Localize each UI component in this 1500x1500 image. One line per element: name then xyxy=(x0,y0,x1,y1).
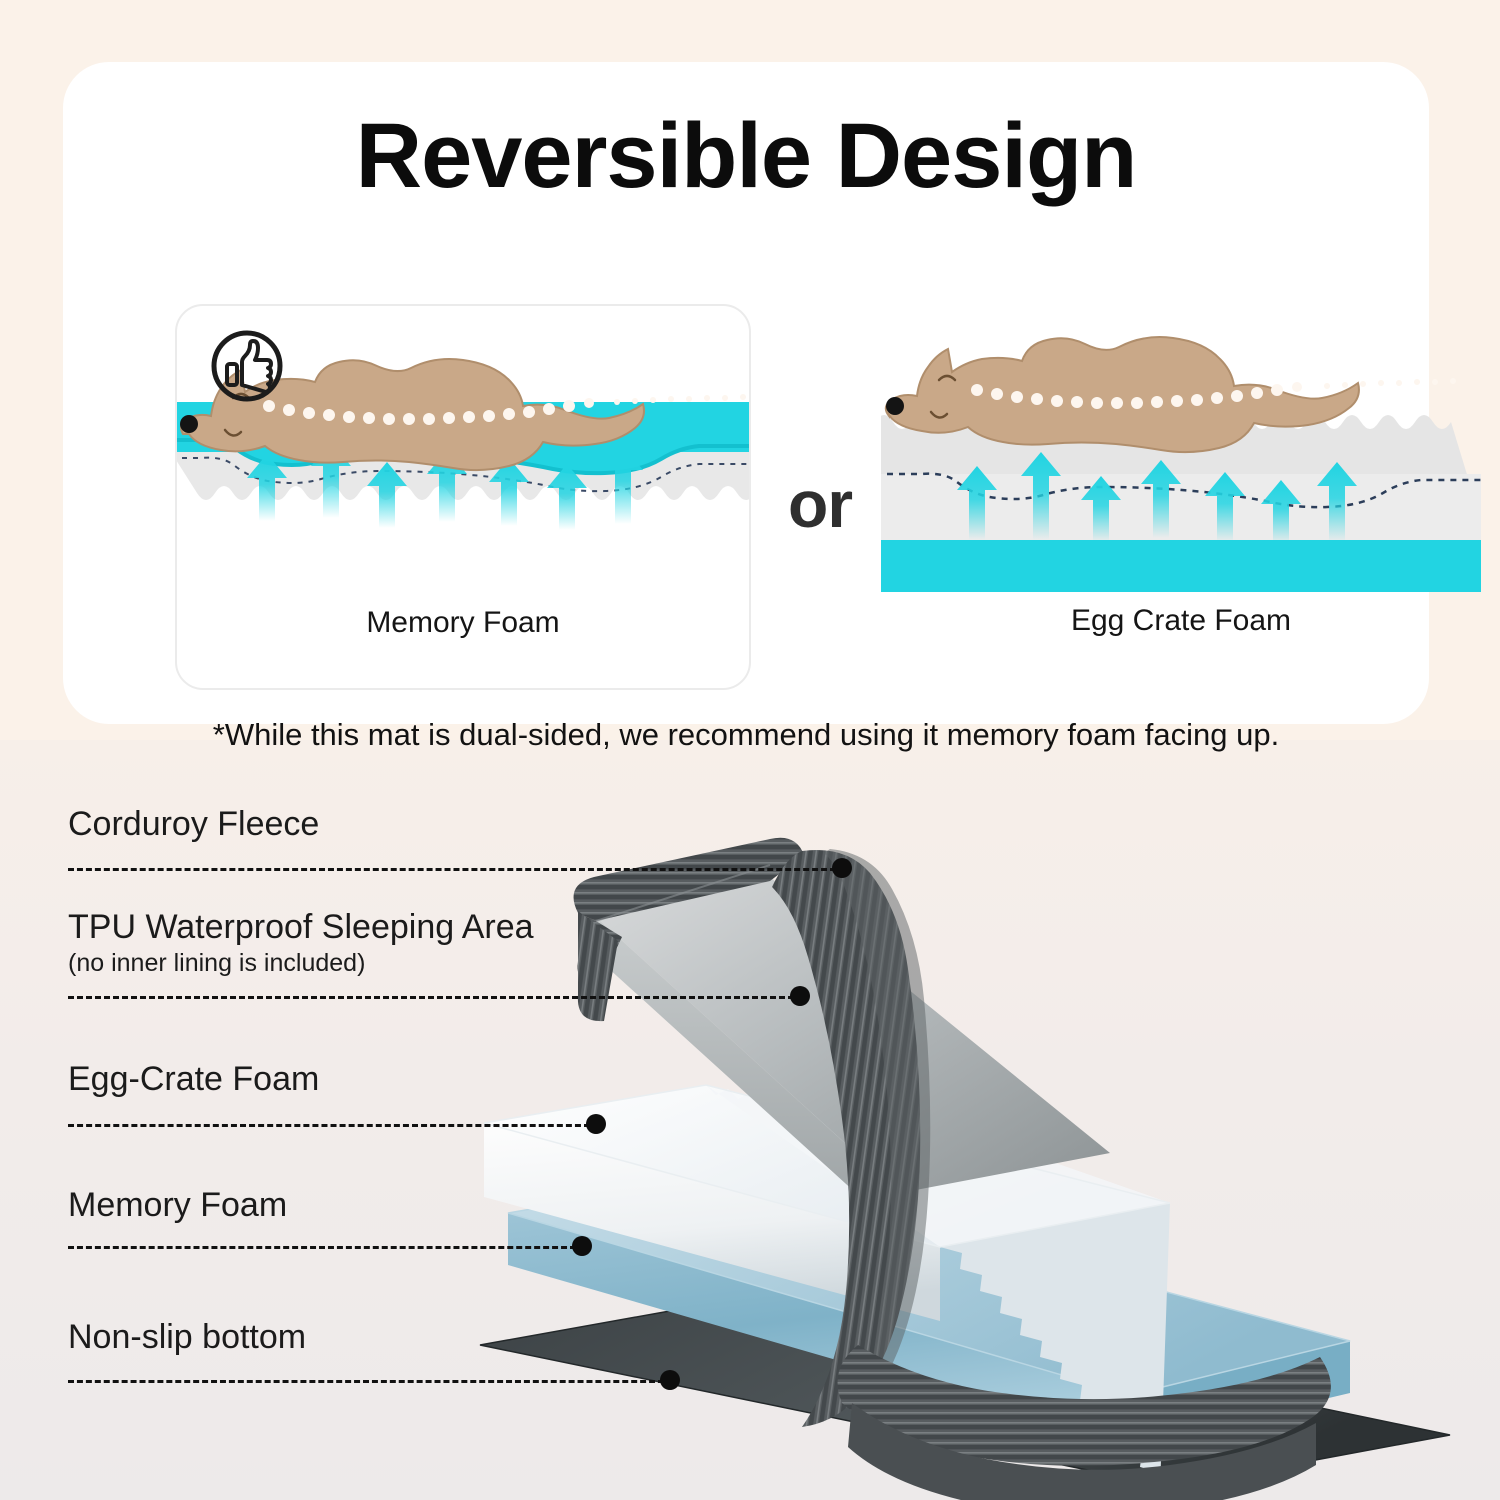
leader-dot-tpu xyxy=(790,986,810,1006)
option-card-egg-crate-foam[interactable]: Egg Crate Foam xyxy=(881,304,1481,686)
reversible-design-card: Reversible Design xyxy=(63,62,1429,724)
layer-label-egg-crate-foam: Egg-Crate Foam xyxy=(68,1060,319,1099)
leader-line-corduroy-fleece xyxy=(68,868,836,871)
leader-dot-egg-crate-foam xyxy=(586,1114,606,1134)
or-separator-label: or xyxy=(760,466,880,542)
layer-label-text: Corduroy Fleece xyxy=(68,805,319,844)
layer-label-memory-foam: Memory Foam xyxy=(68,1186,287,1225)
leader-line-egg-crate-foam xyxy=(68,1124,590,1127)
product-exploded-image xyxy=(470,745,1500,1500)
layer-label-text: Memory Foam xyxy=(68,1186,287,1225)
layer-label-text: TPU Waterproof Sleeping Area xyxy=(68,908,534,947)
option-caption-memory-foam: Memory Foam xyxy=(177,606,749,640)
layer-label-corduroy-fleece: Corduroy Fleece xyxy=(68,805,319,844)
layer-label-text: Egg-Crate Foam xyxy=(68,1060,319,1099)
layer-label-non-slip-bottom: Non-slip bottom xyxy=(68,1318,306,1357)
leader-line-non-slip-bottom xyxy=(68,1380,664,1383)
leader-line-tpu xyxy=(68,996,794,999)
thumbs-up-icon xyxy=(209,328,285,404)
leader-dot-memory-foam xyxy=(572,1236,592,1256)
layer-label-text: Non-slip bottom xyxy=(68,1318,306,1357)
leader-dot-non-slip-bottom xyxy=(660,1370,680,1390)
layer-label-tpu: TPU Waterproof Sleeping Area (no inner l… xyxy=(68,908,534,978)
option-caption-egg-crate-foam: Egg Crate Foam xyxy=(881,604,1481,638)
option-card-memory-foam[interactable]: Memory Foam xyxy=(175,304,751,690)
leader-dot-corduroy-fleece xyxy=(832,858,852,878)
leader-line-memory-foam xyxy=(68,1246,576,1249)
page-title: Reversible Design xyxy=(63,110,1429,202)
layer-sublabel-text: (no inner lining is included) xyxy=(68,949,534,978)
